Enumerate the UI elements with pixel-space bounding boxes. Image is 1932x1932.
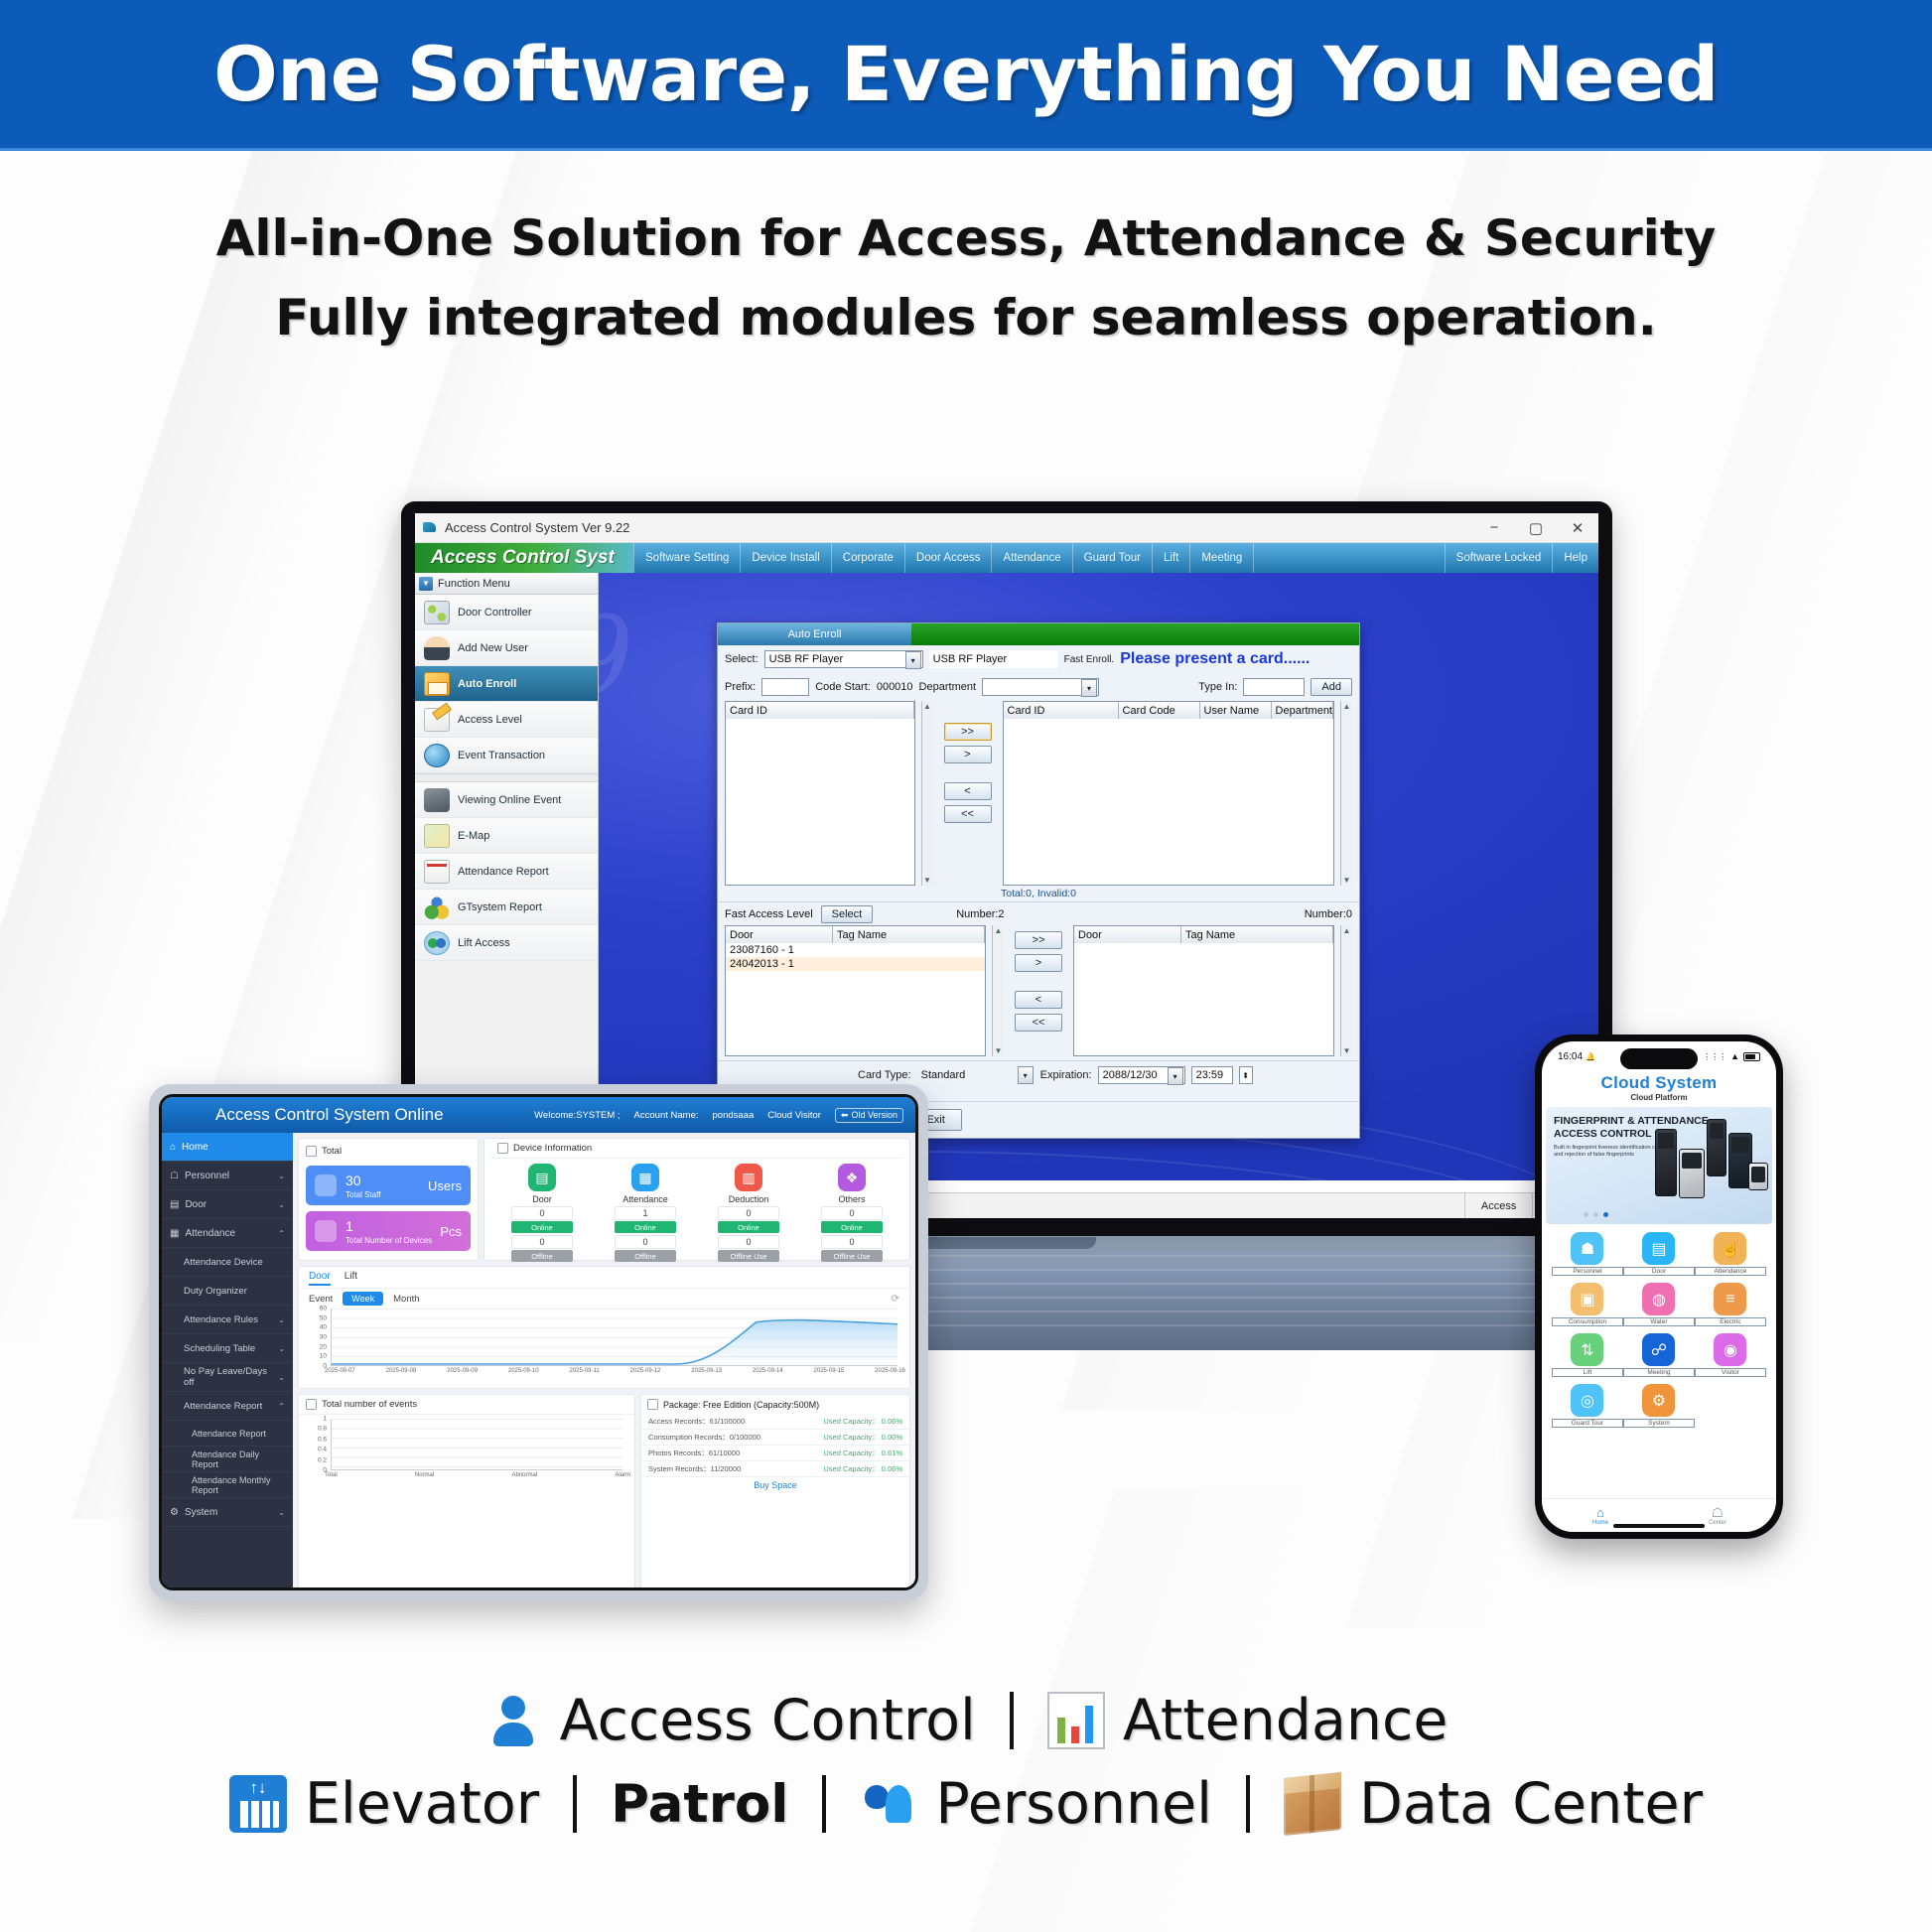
sidebar-item-label: Viewing Online Event bbox=[458, 794, 561, 806]
status-badge: Offline Use bbox=[718, 1250, 779, 1262]
menu-item-lift[interactable]: Lift bbox=[1153, 543, 1190, 573]
sidebar-item-gtsystem-report[interactable]: GTsystem Report bbox=[415, 890, 598, 925]
home-indicator bbox=[1613, 1524, 1705, 1528]
subtitle-line-2: Fully integrated modules for seamless op… bbox=[0, 278, 1932, 357]
status-badge: Online bbox=[821, 1221, 883, 1233]
chevron-down-icon[interactable]: ▼ bbox=[419, 577, 433, 591]
app-menubar[interactable]: Software Setting Device Install Corporat… bbox=[633, 543, 1445, 573]
sidebar-item-label: Scheduling Table bbox=[184, 1343, 255, 1354]
fast-enroll-label: Fast Enroll. bbox=[1064, 654, 1115, 665]
x-tick-label: 2025-09-11 bbox=[570, 1368, 600, 1374]
patrol-signal-icon: ◎ bbox=[1571, 1384, 1603, 1417]
y-tick-label: 10 bbox=[320, 1353, 327, 1360]
water-meter-icon: ◍ bbox=[1642, 1283, 1675, 1315]
sidebar-item-no-pay-leave[interactable]: No Pay Leave/Days off ⌄ bbox=[162, 1363, 293, 1392]
feature-label: Elevator bbox=[305, 1771, 539, 1837]
feature-divider bbox=[822, 1775, 826, 1833]
enrolled-card-list[interactable]: Card ID Card Code User Name Department bbox=[1003, 701, 1334, 886]
sidebar-item-label: Attendance Report bbox=[192, 1429, 266, 1439]
chart-x-labels: 2025-09-072025-09-082025-09-092025-09-10… bbox=[299, 1366, 909, 1374]
status-badge: Offline bbox=[615, 1250, 676, 1262]
app-brand: Access Control Syst bbox=[415, 543, 633, 573]
sidebar-item-label: GTsystem Report bbox=[458, 901, 542, 913]
device-name: Door bbox=[511, 1194, 573, 1204]
y-tick-label: 0.2 bbox=[318, 1456, 327, 1463]
signal-icon: ⋮⋮⋮ bbox=[1703, 1052, 1726, 1061]
app-system[interactable]: ⚙ System bbox=[1623, 1384, 1695, 1428]
layers-icon: ❖ bbox=[838, 1164, 866, 1191]
sidebar-item-label: Door Controller bbox=[458, 607, 532, 619]
sidebar-item-viewing-online-event[interactable]: Viewing Online Event bbox=[415, 782, 598, 818]
status-badge: Online bbox=[511, 1221, 573, 1233]
app-menubar-right[interactable]: Software Locked Help bbox=[1445, 543, 1598, 573]
subtitle-block: All-in-One Solution for Access, Attendan… bbox=[0, 199, 1932, 357]
events-x-labels: TotalNormalAbnormalAlarm bbox=[299, 1470, 634, 1478]
feature-access-control: Access Control bbox=[484, 1688, 976, 1753]
phone-mockup: 16:04 🔔 ⋮⋮⋮ ▲ Cloud System Cloud Platfor… bbox=[1535, 1035, 1783, 1539]
select-button[interactable]: Select bbox=[821, 905, 874, 923]
tab-center[interactable]: ☖ Center bbox=[1659, 1506, 1776, 1526]
x-tick-label: Alarm bbox=[615, 1472, 630, 1478]
add-user-icon bbox=[424, 636, 450, 660]
sidebar-item-door-controller[interactable]: Door Controller bbox=[415, 595, 598, 630]
list-item: Consumption Records：0/100000 Used Capaci… bbox=[641, 1430, 909, 1446]
phone-notch bbox=[1620, 1048, 1698, 1069]
package-card: Package: Free Edition (Capacity:500M) Ac… bbox=[640, 1394, 910, 1590]
app-attendance[interactable]: ☝ Attendance bbox=[1695, 1232, 1766, 1276]
stat-sub: Total Number of Devices bbox=[345, 1236, 432, 1245]
package-row-label: Consumption Records：0/100000 bbox=[648, 1432, 760, 1443]
chevron-down-icon[interactable]: ⌄ bbox=[278, 1344, 285, 1353]
reader-name-field[interactable]: USB RF Player bbox=[929, 650, 1058, 668]
device-name: Attendance bbox=[615, 1194, 676, 1204]
app-consumption[interactable]: ▣ Consumption bbox=[1552, 1283, 1623, 1326]
sidebar-item-label: Personnel bbox=[185, 1171, 229, 1181]
sidebar-item-label: Home bbox=[182, 1142, 208, 1153]
door-move-right-button[interactable]: > bbox=[1015, 954, 1062, 972]
y-tick-label: 0 bbox=[323, 1467, 327, 1474]
app-logo-icon bbox=[423, 521, 438, 534]
dialog-tabs[interactable]: Auto Enroll bbox=[718, 623, 1359, 645]
tab-home[interactable]: ⌂ Home bbox=[1542, 1506, 1659, 1526]
available-door-list[interactable]: Door Tag Name 23087160 - 1 24042013 - 1 bbox=[725, 925, 986, 1056]
sidebar-item-personnel[interactable]: ☖ Personnel ⌄ bbox=[162, 1162, 293, 1190]
sidebar-item-access-level[interactable]: Access Level bbox=[415, 702, 598, 738]
total-invalid-line: Total:0, Invalid:0 bbox=[718, 886, 1359, 901]
device-stat-door: ▤ Door 0 Online 0 Offline bbox=[511, 1164, 573, 1262]
move-all-left-button[interactable]: << bbox=[944, 805, 992, 823]
prefix-row: Prefix: Code Start: 000010 Department Ty… bbox=[718, 673, 1359, 701]
calendar-icon: ▦ bbox=[170, 1228, 179, 1239]
sidebar-item-scheduling-table[interactable]: Scheduling Table ⌄ bbox=[162, 1334, 293, 1363]
feature-divider bbox=[1246, 1775, 1250, 1833]
close-button[interactable]: ✕ bbox=[1557, 519, 1598, 537]
feature-divider bbox=[573, 1775, 577, 1833]
left-list-scrollbar[interactable]: ▲▼ bbox=[921, 701, 933, 886]
x-tick-label: 2025-09-07 bbox=[325, 1368, 355, 1374]
app-lift[interactable]: ⇅ Lift bbox=[1552, 1333, 1623, 1377]
app-guard-tour[interactable]: ◎ Guard Tour bbox=[1552, 1384, 1623, 1428]
table-row[interactable]: 24042013 - 1 bbox=[726, 957, 985, 971]
x-tick-label: 2025-09-15 bbox=[814, 1368, 845, 1374]
package-icon bbox=[647, 1399, 658, 1410]
electric-meter-icon: ≡ bbox=[1714, 1283, 1746, 1315]
sidebar-item-label: Access Level bbox=[458, 714, 522, 726]
app-header: Access Control Syst Software Setting Dev… bbox=[415, 543, 1598, 573]
buy-space-link[interactable]: Buy Space bbox=[641, 1477, 909, 1493]
sidebar-item-door[interactable]: ▤ Door ⌄ bbox=[162, 1190, 293, 1219]
minimize-button[interactable]: − bbox=[1473, 519, 1515, 536]
app-water[interactable]: ◍ Water bbox=[1623, 1283, 1695, 1326]
sidebar-item-label: Attendance Rules bbox=[184, 1314, 258, 1325]
x-tick-label: 2025-09-13 bbox=[691, 1368, 722, 1374]
events-card-title: Total number of events bbox=[322, 1399, 417, 1410]
x-tick-label: 2025-09-08 bbox=[386, 1368, 417, 1374]
phone-hero-banner[interactable]: FINGERPRINT & ATTENDANCE ACCESS CONTROL … bbox=[1546, 1107, 1772, 1224]
gtsystem-report-icon bbox=[424, 896, 450, 919]
number-right: Number:0 bbox=[1305, 908, 1352, 920]
sidebar-item-e-map[interactable]: E-Map bbox=[415, 818, 598, 854]
auto-enroll-dialog: Auto Enroll Select: USB RF Player USB RF… bbox=[717, 622, 1360, 1139]
sidebar-item-attendance[interactable]: ▦ Attendance ⌃ bbox=[162, 1219, 293, 1248]
feature-label: Access Control bbox=[560, 1688, 976, 1753]
refresh-icon[interactable]: ⟳ bbox=[892, 1294, 899, 1305]
function-menu-title: Function Menu bbox=[438, 578, 510, 590]
chevron-down-icon[interactable]: ⌄ bbox=[278, 1172, 285, 1180]
device-photos bbox=[1645, 1115, 1770, 1210]
feature-label: Attendance bbox=[1123, 1688, 1449, 1753]
stat-sub: Total Staff bbox=[345, 1190, 380, 1199]
time-spinner[interactable]: ⬍ bbox=[1239, 1066, 1253, 1084]
account-label: Account Name: bbox=[634, 1110, 699, 1121]
chevron-down-icon[interactable]: ⌄ bbox=[278, 1200, 285, 1209]
chevron-up-icon[interactable]: ⌃ bbox=[278, 1402, 285, 1411]
pos-terminal-icon: ▣ bbox=[1571, 1283, 1603, 1315]
menu-item-help[interactable]: Help bbox=[1552, 543, 1598, 573]
column-tag-name: Tag Name bbox=[1181, 926, 1333, 943]
door-controller-icon bbox=[424, 601, 450, 624]
y-tick-label: 50 bbox=[320, 1314, 327, 1321]
sidebar-item-label: Attendance Report bbox=[458, 866, 549, 878]
wifi-icon: ▲ bbox=[1730, 1051, 1739, 1061]
device-online-count: 0 bbox=[718, 1206, 779, 1220]
clipboard-icon: ▥ bbox=[735, 1164, 762, 1191]
column-door: Door bbox=[1074, 926, 1181, 943]
old-version-button[interactable]: ⬅ Old Version bbox=[835, 1108, 903, 1123]
sidebar-item-label: Event Transaction bbox=[458, 750, 545, 761]
home-icon: ⌂ bbox=[170, 1142, 176, 1153]
map-icon bbox=[424, 824, 450, 848]
list-item: Access Records：61/100000 Used Capacity： … bbox=[641, 1414, 909, 1430]
y-tick-label: 0.6 bbox=[318, 1436, 327, 1443]
chevron-down-icon[interactable]: ⌄ bbox=[278, 1373, 285, 1382]
cloud-visitor-link[interactable]: Cloud Visitor bbox=[767, 1110, 821, 1121]
chevron-down-icon[interactable]: ⌄ bbox=[278, 1508, 285, 1517]
gear-icon: ⚙ bbox=[170, 1507, 179, 1518]
event-transaction-icon bbox=[424, 744, 450, 767]
app-label: System bbox=[1623, 1419, 1695, 1428]
header-banner: One Software, Everything You Need bbox=[0, 0, 1932, 151]
sidebar-item-attendance-rules[interactable]: Attendance Rules ⌄ bbox=[162, 1306, 293, 1334]
department-label: Department bbox=[919, 681, 976, 693]
subtitle-line-1: All-in-One Solution for Access, Attendan… bbox=[0, 199, 1932, 278]
menu-item-attendance[interactable]: Attendance bbox=[992, 543, 1072, 573]
present-card-message: Please present a card...... bbox=[1120, 650, 1310, 668]
sidebar-item-label: Add New User bbox=[458, 642, 528, 654]
person-icon bbox=[484, 1692, 542, 1749]
sidebar-item-home[interactable]: ⌂ Home bbox=[162, 1133, 293, 1162]
eye-icon: ◉ bbox=[1714, 1333, 1746, 1366]
app-label: Door bbox=[1623, 1267, 1695, 1276]
sidebar-item-label: Attendance bbox=[185, 1228, 235, 1239]
sidebar-item-attendance-daily-report[interactable]: Attendance Daily Report bbox=[162, 1447, 293, 1472]
elevator-icon bbox=[229, 1775, 287, 1833]
device-online-count: 1 bbox=[615, 1206, 676, 1220]
user-icon: ☖ bbox=[1659, 1506, 1776, 1520]
move-left-button[interactable]: < bbox=[944, 782, 992, 800]
door-lock-icon: ▤ bbox=[528, 1164, 556, 1191]
tab-label: Center bbox=[1709, 1520, 1726, 1526]
app-door[interactable]: ▤ Door bbox=[1623, 1232, 1695, 1276]
status-badge: Online bbox=[615, 1221, 676, 1233]
type-in-input[interactable] bbox=[1243, 678, 1305, 696]
status-badge: Offline Use bbox=[821, 1250, 883, 1262]
device-online-count: 0 bbox=[511, 1206, 573, 1220]
menu-item-guard-tour[interactable]: Guard Tour bbox=[1073, 543, 1153, 573]
y-tick-label: 0 bbox=[323, 1363, 327, 1370]
range-week-button[interactable]: Week bbox=[343, 1292, 383, 1306]
app-label: Water bbox=[1623, 1317, 1695, 1326]
type-in-label: Type In: bbox=[1198, 681, 1237, 693]
list-item: System Records：11/20000 Used Capacity： 0… bbox=[641, 1461, 909, 1477]
home-icon: ⌂ bbox=[1542, 1506, 1659, 1520]
sidebar-item-attendance-report[interactable]: Attendance Report bbox=[162, 1421, 293, 1447]
total-card-title: Total bbox=[322, 1146, 342, 1157]
tab-filler bbox=[911, 623, 1359, 645]
app-label: Guard Tour bbox=[1552, 1419, 1623, 1428]
meeting-icon: ☍ bbox=[1642, 1333, 1675, 1366]
column-card-code: Card Code bbox=[1119, 702, 1200, 719]
window-title: Access Control System Ver 9.22 bbox=[445, 520, 629, 535]
number-left: Number:2 bbox=[956, 908, 1004, 920]
y-tick-label: 0.8 bbox=[318, 1426, 327, 1433]
carousel-dots[interactable] bbox=[1584, 1212, 1608, 1217]
sidebar-item-attendance-report[interactable]: Attendance Report bbox=[415, 854, 598, 890]
sidebar-item-label: Door bbox=[185, 1199, 207, 1210]
add-button[interactable]: Add bbox=[1311, 678, 1352, 696]
tab-lift[interactable]: Lift bbox=[345, 1271, 357, 1286]
menu-item-software-locked[interactable]: Software Locked bbox=[1445, 543, 1553, 573]
sidebar-item-attendance-monthly-report[interactable]: Attendance Monthly Report bbox=[162, 1472, 293, 1498]
card-type-select[interactable]: Standard bbox=[917, 1066, 1035, 1084]
app-electric[interactable]: ≡ Electric bbox=[1695, 1283, 1766, 1326]
door-right-scrollbar[interactable]: ▲▼ bbox=[1340, 925, 1352, 1056]
app-meeting[interactable]: ☍ Meeting bbox=[1623, 1333, 1695, 1377]
device-stat-others: ❖ Others 0 Online 0 Offline Use bbox=[821, 1164, 883, 1262]
list-item: Photos Records：61/10000 Used Capacity： 0… bbox=[641, 1446, 909, 1461]
sidebar-item-attendance-device[interactable]: Attendance Device bbox=[162, 1248, 293, 1277]
available-card-list[interactable]: Card ID bbox=[725, 701, 915, 886]
users-icon bbox=[315, 1174, 337, 1196]
menu-item-device-install[interactable]: Device Install bbox=[741, 543, 831, 573]
account-value: pondsaaa bbox=[713, 1110, 755, 1121]
feature-data-center: Data Center bbox=[1284, 1771, 1703, 1837]
y-tick-label: 30 bbox=[320, 1334, 327, 1341]
feature-attendance: Attendance bbox=[1047, 1688, 1449, 1753]
fast-access-level-row: Fast Access Level Select Number:2 Number… bbox=[718, 901, 1359, 925]
door-events-plot: 0102030405060 bbox=[307, 1309, 901, 1366]
selected-door-list[interactable]: Door Tag Name bbox=[1073, 925, 1334, 1056]
door-move-left-button[interactable]: < bbox=[1015, 991, 1062, 1009]
device-offline-count: 0 bbox=[821, 1235, 883, 1249]
tablet-screen: Access Control System Online Welcome:SYS… bbox=[159, 1094, 918, 1590]
tablet-sidebar[interactable]: ⌂ Home ☖ Personnel ⌄ ▤ Door ⌄ ▦ Attendan… bbox=[162, 1133, 293, 1590]
device-stat-attendance: ▦ Attendance 1 Online 0 Offline bbox=[615, 1164, 676, 1262]
package-row-capacity: Used Capacity： 0.06% bbox=[823, 1416, 902, 1427]
device-online-count: 0 bbox=[821, 1206, 883, 1220]
auto-enroll-icon bbox=[424, 672, 450, 696]
status-badge: Offline bbox=[511, 1250, 573, 1262]
device-name: Deduction bbox=[718, 1194, 779, 1204]
person-card-icon: ☗ bbox=[1571, 1232, 1603, 1265]
total-card: Total 30 Total Staff Users bbox=[298, 1138, 479, 1261]
door-move-all-right-button[interactable]: >> bbox=[1015, 931, 1062, 949]
column-door: Door bbox=[726, 926, 833, 943]
app-label: Attendance bbox=[1695, 1267, 1766, 1276]
column-department: Department bbox=[1272, 702, 1333, 719]
sidebar-item-auto-enroll[interactable]: Auto Enroll bbox=[415, 666, 598, 702]
sidebar-item-label: Auto Enroll bbox=[458, 678, 516, 690]
door-events-chart-card: Door Lift Event Week Month ⟳ 01020304050… bbox=[298, 1266, 910, 1389]
attendance-report-icon bbox=[424, 860, 450, 884]
package-row-capacity: Used Capacity： 0.06% bbox=[823, 1463, 902, 1474]
x-tick-label: 2025-09-12 bbox=[630, 1368, 661, 1374]
x-tick-label: Normal bbox=[415, 1472, 434, 1478]
x-tick-label: 2025-09-16 bbox=[875, 1368, 905, 1374]
code-start-label: Code Start: bbox=[815, 681, 871, 693]
sidebar-item-add-new-user[interactable]: Add New User bbox=[415, 630, 598, 666]
package-title: Package: Free Edition (Capacity:500M) bbox=[663, 1400, 819, 1410]
tab-door[interactable]: Door bbox=[309, 1271, 331, 1286]
sidebar-item-system[interactable]: ⚙ System ⌄ bbox=[162, 1498, 293, 1527]
prefix-input[interactable] bbox=[761, 678, 809, 696]
feature-label: Data Center bbox=[1359, 1771, 1703, 1837]
sidebar-item-lift-access[interactable]: Lift Access bbox=[415, 925, 598, 961]
range-month-button[interactable]: Month bbox=[393, 1294, 419, 1305]
function-menu-header[interactable]: ▼ Function Menu bbox=[415, 573, 598, 595]
door-lock-icon: ▤ bbox=[1642, 1232, 1675, 1265]
expiration-label: Expiration: bbox=[1040, 1069, 1092, 1081]
package-row-label: System Records：11/20000 bbox=[648, 1463, 741, 1474]
expiration-date-input[interactable]: 2088/12/30 bbox=[1098, 1066, 1185, 1084]
y-tick-label: 0.4 bbox=[318, 1447, 327, 1453]
phone-title-block: Cloud System Cloud Platform bbox=[1542, 1071, 1776, 1107]
reader-select-row: Select: USB RF Player USB RF Player Fast… bbox=[718, 645, 1359, 673]
column-user-name: User Name bbox=[1200, 702, 1272, 719]
phone-app-grid: ☗ Personnel ▤ Door ☝ Attendance ▣ Consum… bbox=[1542, 1224, 1776, 1435]
chevron-up-icon[interactable]: ⌃ bbox=[278, 1229, 285, 1238]
package-row-capacity: Used Capacity： 0.61% bbox=[823, 1448, 902, 1458]
stat-total-staff: 30 Total Staff Users bbox=[306, 1166, 471, 1205]
tablet-app-title: Access Control System Online bbox=[215, 1105, 444, 1125]
sidebar-item-attendance-report-group[interactable]: Attendance Report ⌃ bbox=[162, 1392, 293, 1421]
app-label: Meeting bbox=[1623, 1368, 1695, 1377]
move-all-right-button[interactable]: >> bbox=[944, 723, 992, 741]
person-icon: ☖ bbox=[170, 1171, 179, 1181]
menu-item-software-setting[interactable]: Software Setting bbox=[633, 543, 741, 573]
department-select[interactable] bbox=[982, 678, 1099, 696]
sidebar-item-event-transaction[interactable]: Event Transaction bbox=[415, 738, 598, 773]
feature-divider bbox=[1010, 1692, 1014, 1749]
stat-total-devices: 1 Total Number of Devices Pcs bbox=[306, 1211, 471, 1251]
feature-label: Patrol bbox=[611, 1774, 788, 1835]
package-row-label: Access Records：61/100000 bbox=[648, 1416, 745, 1427]
tab-auto-enroll[interactable]: Auto Enroll bbox=[718, 623, 911, 645]
sidebar-item-label: Attendance Daily Report bbox=[192, 1449, 285, 1469]
move-right-button[interactable]: > bbox=[944, 746, 992, 763]
status-access: Access bbox=[1464, 1193, 1532, 1218]
transfer-buttons: >> > < << bbox=[939, 701, 997, 886]
door-move-all-left-button[interactable]: << bbox=[1015, 1014, 1062, 1032]
sidebar-item-label: No Pay Leave/Days off bbox=[184, 1366, 272, 1388]
y-tick-label: 20 bbox=[320, 1343, 327, 1350]
calendar-icon: ▦ bbox=[631, 1164, 659, 1191]
stat-value: 30 bbox=[345, 1173, 361, 1188]
app-visitor[interactable]: ◉ Visitor bbox=[1695, 1333, 1766, 1377]
status-time: 16:04 bbox=[1558, 1051, 1583, 1062]
list-icon bbox=[306, 1399, 317, 1410]
window-titlebar: Access Control System Ver 9.22 − ▢ ✕ bbox=[415, 513, 1598, 543]
menu-item-corporate[interactable]: Corporate bbox=[832, 543, 905, 573]
sidebar-item-duty-organizer[interactable]: Duty Organizer bbox=[162, 1277, 293, 1306]
maximize-button[interactable]: ▢ bbox=[1515, 519, 1557, 537]
lift-icon: ⇅ bbox=[1571, 1333, 1603, 1366]
card-transfer-area: Card ID ▲▼ >> > < << Card ID bbox=[718, 701, 1359, 886]
tablet-header: Access Control System Online Welcome:SYS… bbox=[162, 1097, 915, 1133]
door-transfer-area: Door Tag Name 23087160 - 1 24042013 - 1 … bbox=[718, 925, 1359, 1056]
x-tick-label: 2025-09-14 bbox=[753, 1368, 783, 1374]
sidebar-item-label: Attendance Report bbox=[184, 1401, 262, 1412]
menu-item-meeting[interactable]: Meeting bbox=[1190, 543, 1254, 573]
fast-access-level-label: Fast Access Level bbox=[725, 908, 813, 920]
app-label: Lift bbox=[1552, 1368, 1623, 1377]
gear-icon: ⚙ bbox=[1642, 1384, 1675, 1417]
x-tick-label: Abnormal bbox=[511, 1472, 537, 1478]
reader-select[interactable]: USB RF Player bbox=[764, 650, 923, 668]
card-type-label: Card Type: bbox=[858, 1069, 911, 1081]
page-title: One Software, Everything You Need bbox=[213, 30, 1719, 118]
x-tick-label: 2025-09-09 bbox=[447, 1368, 478, 1374]
column-card-id: Card ID bbox=[726, 702, 914, 719]
chevron-down-icon[interactable]: ⌄ bbox=[278, 1315, 285, 1324]
right-list-scrollbar[interactable]: ▲▼ bbox=[1340, 701, 1352, 886]
welcome-text: Welcome:SYSTEM ; bbox=[534, 1110, 620, 1121]
phone-screen: 16:04 🔔 ⋮⋮⋮ ▲ Cloud System Cloud Platfor… bbox=[1542, 1041, 1776, 1532]
door-left-scrollbar[interactable]: ▲▼ bbox=[992, 925, 1004, 1056]
lift-access-icon bbox=[424, 931, 450, 955]
tab-label: Home bbox=[1592, 1520, 1608, 1526]
package-row-capacity: Used Capacity： 0.00% bbox=[823, 1432, 902, 1443]
expiration-time-input[interactable]: 23:59 bbox=[1191, 1066, 1233, 1084]
package-row-label: Photos Records：61/10000 bbox=[648, 1448, 740, 1458]
menu-item-door-access[interactable]: Door Access bbox=[905, 543, 993, 573]
sidebar-item-label: Attendance Monthly Report bbox=[192, 1475, 285, 1495]
column-card-id: Card ID bbox=[1004, 702, 1119, 719]
event-label: Event bbox=[309, 1294, 333, 1305]
y-tick-label: 1 bbox=[323, 1416, 327, 1423]
table-row[interactable]: 23087160 - 1 bbox=[726, 943, 985, 957]
app-personnel[interactable]: ☗ Personnel bbox=[1552, 1232, 1623, 1276]
